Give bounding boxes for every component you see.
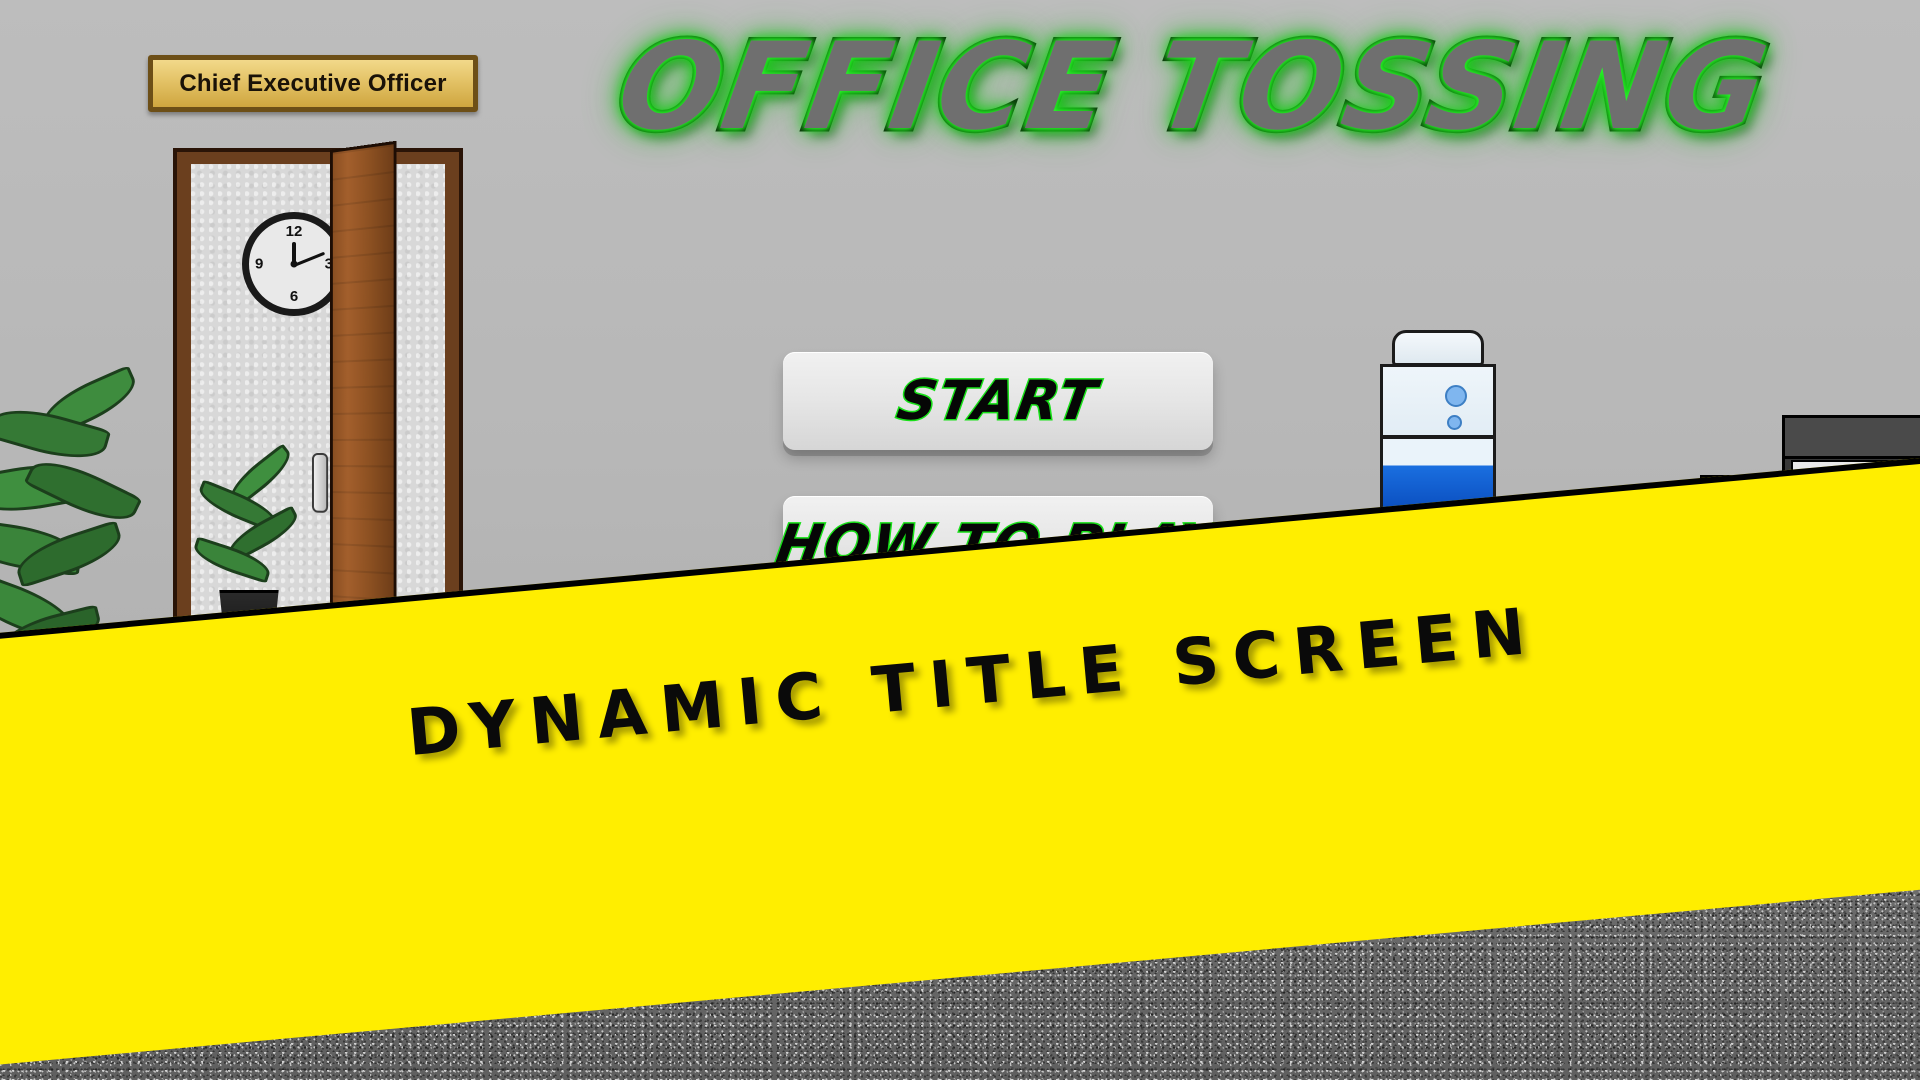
game-logo: Office Tossing: [620, 28, 1520, 193]
water-bottle-cap: [1392, 330, 1484, 366]
water-bubble: [1445, 385, 1467, 407]
door-plaque-label: Chief Executive Officer: [179, 72, 446, 96]
clock-minute-hand: [293, 252, 325, 267]
start-button-label: Start: [894, 374, 1102, 428]
clock-number-6: 6: [290, 289, 298, 304]
clock-number-9: 9: [255, 257, 263, 272]
water-bottle-upper: [1380, 364, 1496, 438]
door-plaque: Chief Executive Officer: [148, 55, 478, 112]
water-bubble: [1447, 415, 1462, 430]
copier-lid: [1785, 418, 1920, 459]
clock-number-12: 12: [286, 224, 303, 239]
plant-leaf: [23, 449, 142, 533]
clock-center-pin: [291, 261, 298, 268]
game-title-screen: 12 3 6 9 Chief Executive Officer: [0, 0, 1920, 1080]
feature-banner-label: Dynamic Title Screen: [405, 599, 1542, 766]
game-title: Office Tossing: [610, 28, 1529, 148]
start-button[interactable]: Start: [783, 352, 1213, 450]
